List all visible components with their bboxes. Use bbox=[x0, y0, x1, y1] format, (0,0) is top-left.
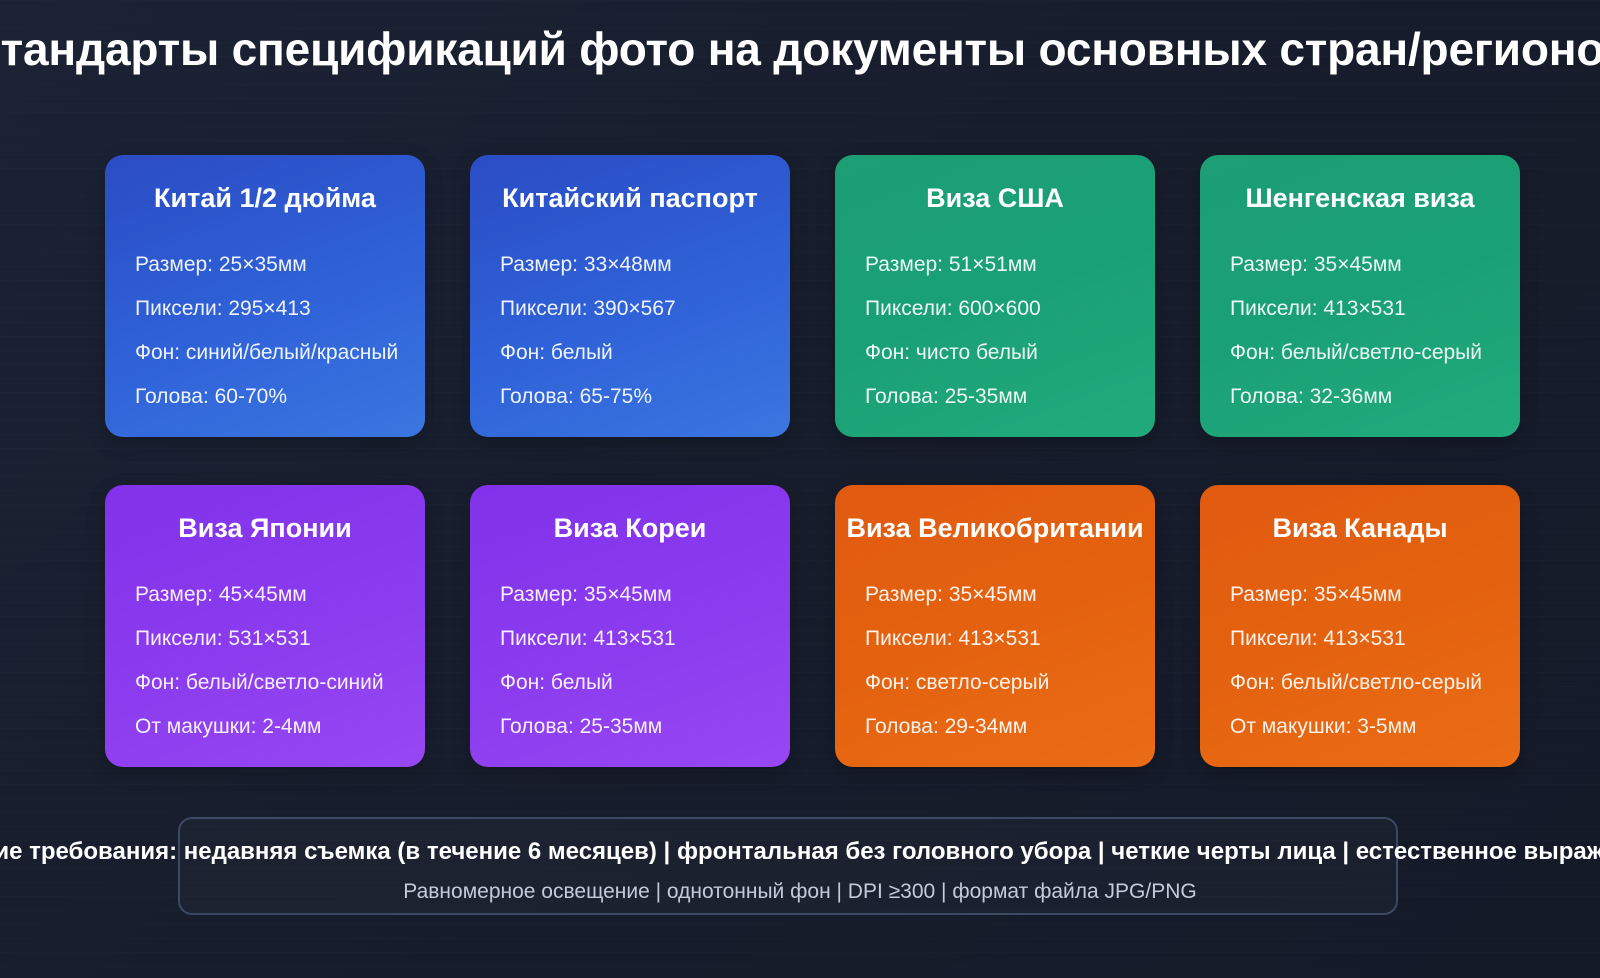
spec-card-title: Виза Канады bbox=[1272, 515, 1447, 542]
spec-card-row: Пиксели: 531×531 bbox=[135, 617, 425, 661]
page-title: Стандарты спецификаций фото на документы… bbox=[0, 22, 1600, 76]
spec-card-row: Голова: 60-70% bbox=[135, 375, 425, 419]
spec-card-rows: Размер: 45×45ммПиксели: 531×531Фон: белы… bbox=[135, 573, 425, 749]
spec-card-title: Китайский паспорт bbox=[502, 185, 758, 212]
spec-card-title: Шенгенская виза bbox=[1245, 185, 1474, 212]
spec-card: Китайский паспортРазмер: 33×48ммПиксели:… bbox=[470, 155, 790, 437]
spec-card: Виза ВеликобританииРазмер: 35×45ммПиксел… bbox=[835, 485, 1155, 767]
spec-card-row: Пиксели: 600×600 bbox=[865, 287, 1155, 331]
spec-card-row: Фон: светло-серый bbox=[865, 661, 1155, 705]
spec-card-row: Пиксели: 413×531 bbox=[1230, 287, 1520, 331]
footer-requirements-primary: Общие требования: недавняя съемка (в теч… bbox=[0, 838, 1600, 866]
spec-card-row: Голова: 25-35мм bbox=[500, 705, 790, 749]
spec-card-row: Голова: 25-35мм bbox=[865, 375, 1155, 419]
spec-card-rows: Размер: 51×51ммПиксели: 600×600Фон: чист… bbox=[865, 243, 1155, 419]
spec-card-row: Фон: чисто белый bbox=[865, 331, 1155, 375]
spec-card-row: Пиксели: 390×567 bbox=[500, 287, 790, 331]
spec-card-row: Фон: белый bbox=[500, 331, 790, 375]
spec-card-row: Фон: белый bbox=[500, 661, 790, 705]
spec-card-row: Голова: 65-75% bbox=[500, 375, 790, 419]
spec-card-row: Размер: 45×45мм bbox=[135, 573, 425, 617]
spec-card-row: Голова: 32-36мм bbox=[1230, 375, 1520, 419]
spec-card-row: Пиксели: 413×531 bbox=[500, 617, 790, 661]
spec-card-title: Виза США bbox=[926, 185, 1064, 212]
spec-card-title: Виза Кореи bbox=[554, 515, 707, 542]
spec-card-row: Фон: белый/светло-синий bbox=[135, 661, 425, 705]
spec-card-title: Виза Великобритании bbox=[846, 515, 1143, 542]
spec-card-row: Размер: 35×45мм bbox=[500, 573, 790, 617]
spec-card-row: Фон: белый/светло-серый bbox=[1230, 661, 1520, 705]
spec-card-rows: Размер: 35×45ммПиксели: 413×531Фон: белы… bbox=[1230, 573, 1520, 749]
spec-card-rows: Размер: 35×45ммПиксели: 413×531Фон: свет… bbox=[865, 573, 1155, 749]
spec-card-row: Пиксели: 413×531 bbox=[1230, 617, 1520, 661]
spec-card-title: Виза Японии bbox=[178, 515, 351, 542]
spec-card-rows: Размер: 35×45ммПиксели: 413×531Фон: белы… bbox=[1230, 243, 1520, 419]
spec-card: Китай 1/2 дюймаРазмер: 25×35ммПиксели: 2… bbox=[105, 155, 425, 437]
spec-card-row: Фон: синий/белый/красный bbox=[135, 331, 425, 375]
spec-card-row: От макушки: 3-5мм bbox=[1230, 705, 1520, 749]
spec-card-row: Голова: 29-34мм bbox=[865, 705, 1155, 749]
spec-card-row: От макушки: 2-4мм bbox=[135, 705, 425, 749]
spec-card-rows: Размер: 25×35ммПиксели: 295×413Фон: сини… bbox=[135, 243, 425, 419]
spec-card-grid: Китай 1/2 дюймаРазмер: 25×35ммПиксели: 2… bbox=[105, 155, 1495, 767]
spec-card-row: Размер: 35×45мм bbox=[865, 573, 1155, 617]
spec-card-row: Фон: белый/светло-серый bbox=[1230, 331, 1520, 375]
spec-card: Виза КанадыРазмер: 35×45ммПиксели: 413×5… bbox=[1200, 485, 1520, 767]
spec-card-row: Пиксели: 413×531 bbox=[865, 617, 1155, 661]
spec-card-rows: Размер: 33×48ммПиксели: 390×567Фон: белы… bbox=[500, 243, 790, 419]
spec-card-row: Размер: 33×48мм bbox=[500, 243, 790, 287]
spec-card: Виза ЯпонииРазмер: 45×45ммПиксели: 531×5… bbox=[105, 485, 425, 767]
footer-requirements-secondary: Равномерное освещение | однотонный фон |… bbox=[403, 880, 1196, 904]
spec-card-rows: Размер: 35×45ммПиксели: 413×531Фон: белы… bbox=[500, 573, 790, 749]
spec-card: Виза КореиРазмер: 35×45ммПиксели: 413×53… bbox=[470, 485, 790, 767]
spec-card-title: Китай 1/2 дюйма bbox=[154, 185, 376, 212]
spec-card-row: Размер: 25×35мм bbox=[135, 243, 425, 287]
spec-card-row: Пиксели: 295×413 bbox=[135, 287, 425, 331]
spec-card: Шенгенская визаРазмер: 35×45ммПиксели: 4… bbox=[1200, 155, 1520, 437]
spec-card: Виза СШАРазмер: 51×51ммПиксели: 600×600Ф… bbox=[835, 155, 1155, 437]
spec-card-row: Размер: 51×51мм bbox=[865, 243, 1155, 287]
poster-root: Стандарты спецификаций фото на документы… bbox=[0, 0, 1600, 978]
spec-card-row: Размер: 35×45мм bbox=[1230, 573, 1520, 617]
spec-card-row: Размер: 35×45мм bbox=[1230, 243, 1520, 287]
